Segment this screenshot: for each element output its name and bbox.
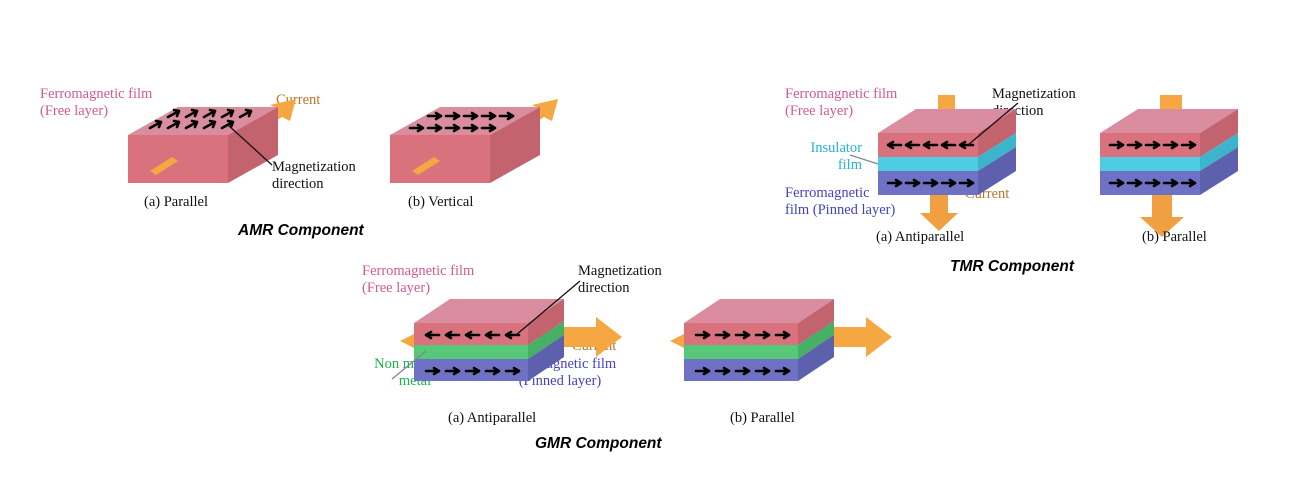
gmr-magnetization-label-line1: Magnetization (578, 263, 662, 280)
amr-vertical-caption: (b) Vertical (408, 194, 473, 211)
tmr-antiparallel-insulator-front-face (878, 157, 978, 171)
tmr-parallel-insulator-front-face (1100, 157, 1200, 171)
amr-vertical-front-face (390, 135, 490, 183)
tmr-section: Ferromagnetic film (Free layer) Insulato… (760, 0, 1290, 290)
tmr-insulator-label-line1: Insulator (770, 140, 862, 157)
gmr-section-title: GMR Component (535, 435, 662, 453)
gmr-parallel-nonmagnetic-front-face (684, 345, 798, 359)
amr-parallel-front-face (128, 135, 228, 183)
tmr-insulator-label-line2: film (770, 157, 862, 174)
gmr-free-layer-label-line1: Ferromagnetic film (362, 263, 474, 280)
amr-section-title: AMR Component (238, 222, 364, 240)
tmr-parallel-caption: (b) Parallel (1142, 229, 1207, 246)
gmr-section: Ferromagnetic film (Free layer) Magnetiz… (340, 255, 900, 501)
amr-section: Ferromagnetic film (Free layer) Current … (0, 0, 560, 260)
gmr-parallel-stack (670, 279, 920, 399)
tmr-antiparallel-stack (868, 95, 1078, 235)
gmr-antiparallel-nonmagnetic-front-face (414, 345, 528, 359)
tmr-antiparallel-current-arrow-bottom (920, 195, 958, 231)
tmr-antiparallel-caption: (a) Antiparallel (876, 229, 964, 246)
gmr-antiparallel-stack (400, 279, 650, 399)
amr-parallel-block (120, 95, 310, 205)
gmr-antiparallel-caption: (a) Antiparallel (448, 410, 536, 427)
gmr-parallel-caption: (b) Parallel (730, 410, 795, 427)
tmr-parallel-stack (1090, 95, 1290, 235)
tmr-insulator-label: Insulator film (770, 140, 862, 174)
amr-vertical-block (382, 95, 572, 205)
amr-parallel-caption: (a) Parallel (144, 194, 208, 211)
tmr-section-title: TMR Component (950, 258, 1074, 276)
